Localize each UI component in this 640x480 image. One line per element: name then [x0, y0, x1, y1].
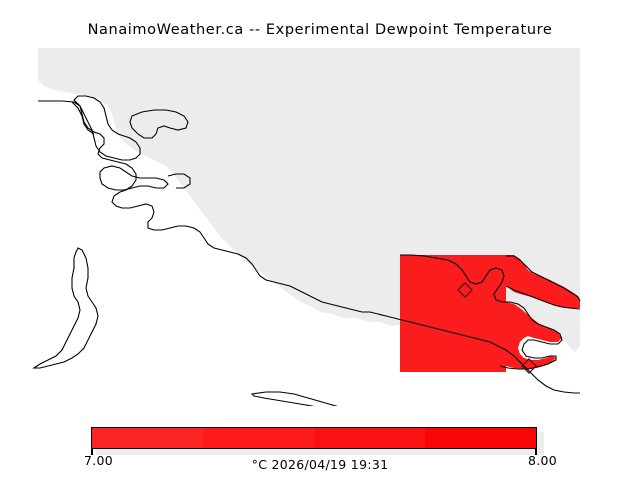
map-panel[interactable] [0, 46, 640, 406]
colorbar-segment-3 [314, 428, 425, 448]
page-title: NanaimoWeather.ca -- Experimental Dewpoi… [0, 22, 640, 38]
colorbar-segment-1 [92, 428, 203, 448]
weather-map-page: NanaimoWeather.ca -- Experimental Dewpoi… [0, 0, 640, 480]
colorbar-legend: 7.00 8.00 °C 2026/04/19 19:31 [0, 420, 640, 480]
colorbar-segment-2 [203, 428, 314, 448]
colorbar-units-timestamp-label: °C 2026/04/19 19:31 [0, 457, 640, 472]
map-canvas[interactable] [0, 46, 640, 406]
colorbar[interactable] [91, 427, 537, 449]
colorbar-segment-4 [425, 428, 536, 448]
